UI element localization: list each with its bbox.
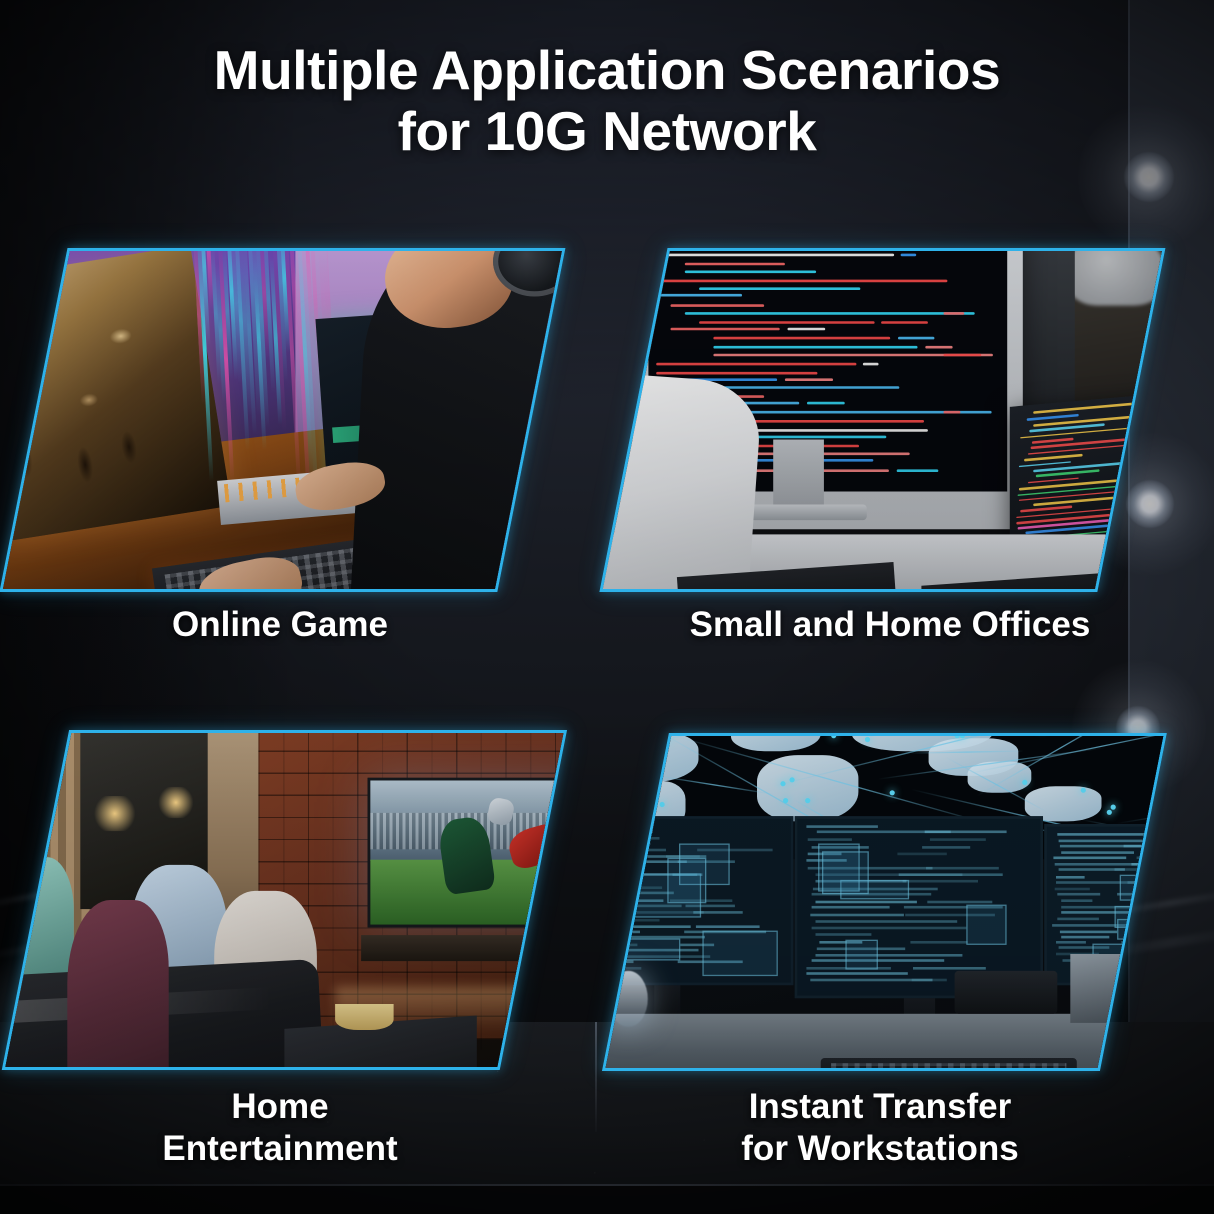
caption-line: Online Game [172, 605, 388, 644]
scenario-card-home-entertainment[interactable] [3, 730, 561, 1064]
page-title-line-2: for 10G Network [0, 101, 1214, 162]
caption-line: Home [231, 1087, 328, 1126]
decor [713, 248, 949, 249]
scenario-caption-online-game: Online Game [40, 604, 520, 646]
scenario-image-home-entertainment [2, 730, 567, 1070]
scenario-caption-home-entertainment: Home Entertainment [40, 1086, 520, 1170]
scenario-caption-instant-transfer-for-workstations: Instant Transfer for Workstations [640, 1086, 1120, 1170]
scenario-card-frame [602, 733, 1167, 1071]
caption-line: Small and Home Offices [690, 605, 1091, 644]
scenario-card-online-game[interactable] [1, 248, 560, 586]
scenario-image-small-and-home-offices [599, 248, 1165, 592]
scenario-image-instant-transfer-for-workstations [602, 733, 1167, 1071]
scenario-card-instant-transfer-for-workstations[interactable] [603, 733, 1161, 1065]
page-title-line-1: Multiple Application Scenarios [0, 40, 1214, 101]
scenario-image-online-game [0, 248, 565, 592]
caption-line: for Workstations [741, 1129, 1018, 1168]
promo-graphic: Multiple Application Scenarios for 10G N… [0, 0, 1214, 1214]
decor [943, 248, 971, 249]
scenario-card-small-and-home-offices[interactable] [601, 248, 1160, 586]
scenario-card-frame [2, 730, 567, 1070]
scenario-card-frame [0, 248, 565, 592]
page-title: Multiple Application Scenarios for 10G N… [0, 40, 1214, 162]
scenario-card-frame [599, 248, 1165, 592]
caption-line: Entertainment [162, 1129, 397, 1168]
caption-line: Instant Transfer [749, 1087, 1012, 1126]
decor [791, 733, 902, 735]
scenario-caption-small-and-home-offices: Small and Home Offices [600, 604, 1180, 646]
